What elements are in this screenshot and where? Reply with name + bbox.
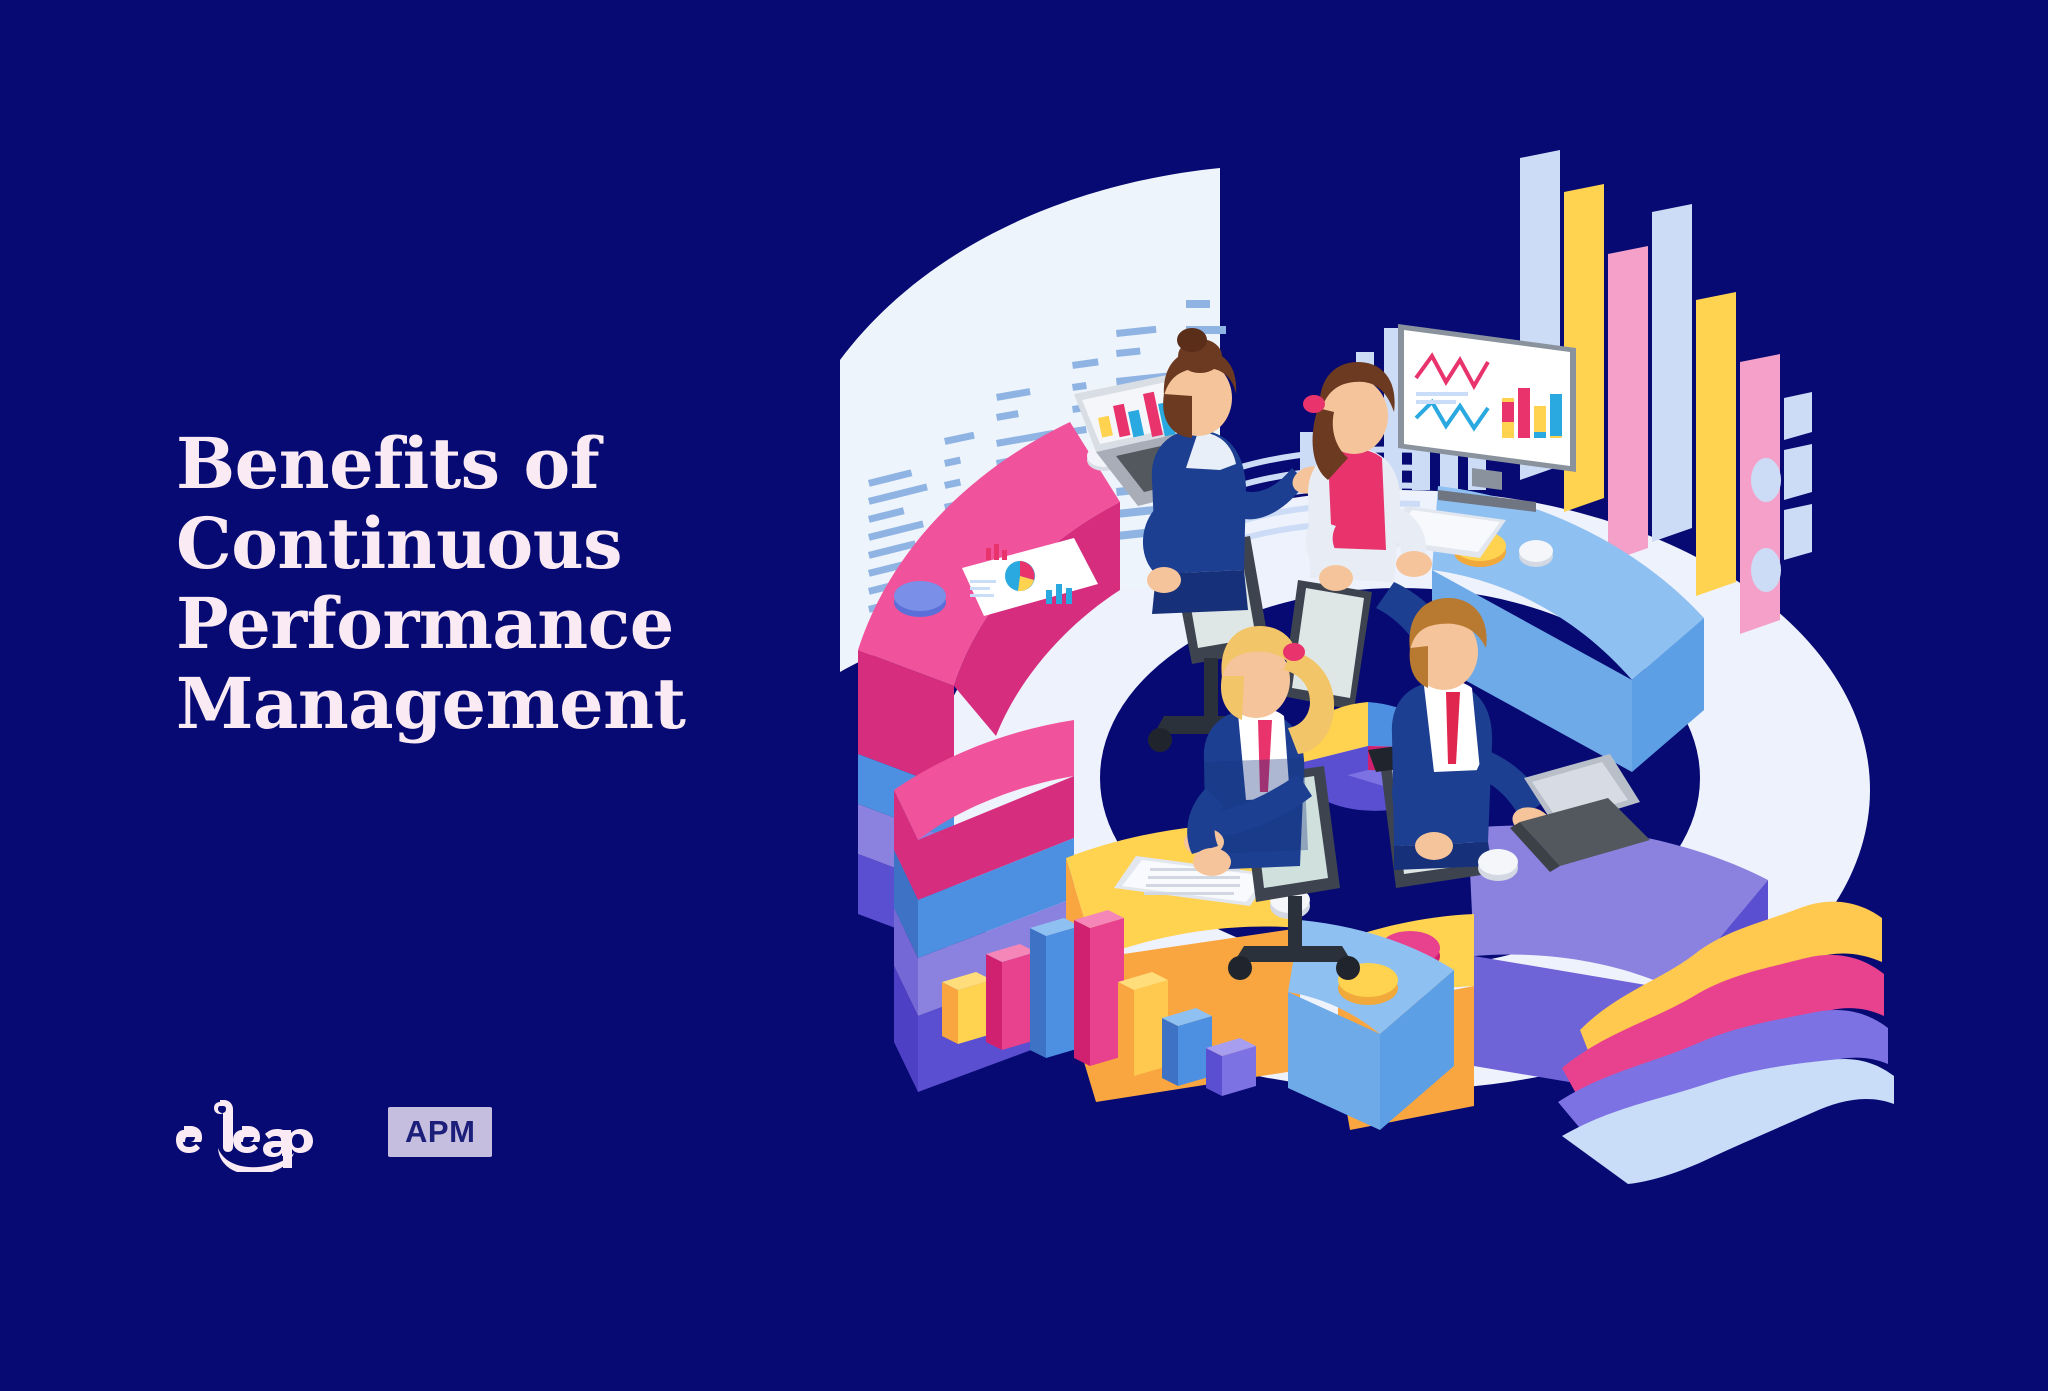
poster-canvas: Benefits of Continuous Performance Manag…: [0, 0, 2048, 1391]
brand-logo[interactable]: APM: [176, 1092, 492, 1172]
title-line-4: Management: [176, 664, 916, 744]
hero-illustration: [820, 150, 2000, 1210]
title-line-2: Continuous: [176, 504, 916, 584]
page-title: Benefits of Continuous Performance Manag…: [176, 424, 916, 744]
apm-badge: APM: [388, 1107, 492, 1157]
eleap-wordmark-icon: [176, 1092, 366, 1172]
title-line-1: Benefits of: [176, 424, 916, 504]
title-line-3: Performance: [176, 584, 916, 664]
